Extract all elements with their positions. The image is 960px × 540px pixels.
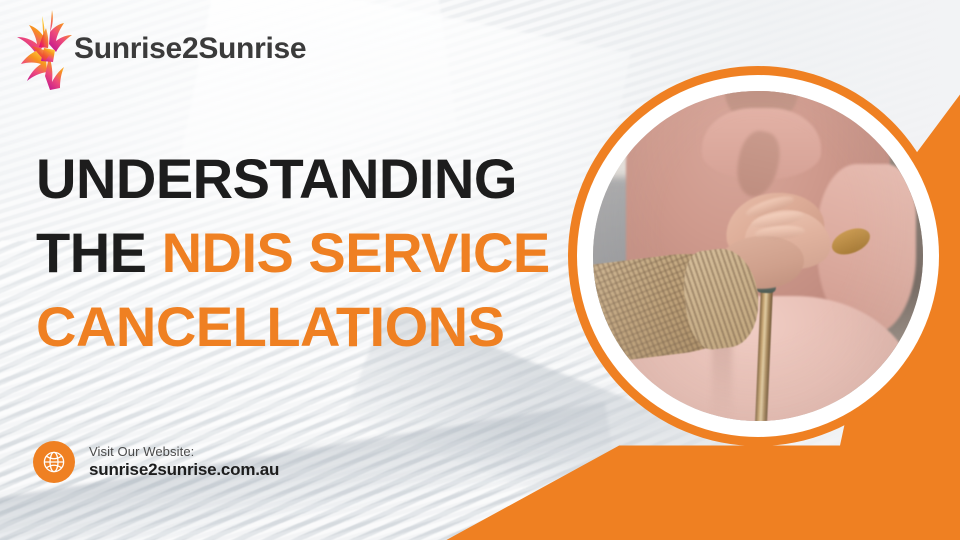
photo-frame-circle [568, 66, 948, 446]
headline-line-2-prefix: THE [36, 221, 162, 284]
photo-vignette [593, 91, 923, 421]
website-callout[interactable]: Visit Our Website: sunrise2sunrise.com.a… [33, 441, 279, 483]
website-text-group: Visit Our Website: sunrise2sunrise.com.a… [89, 444, 279, 480]
headline-block: UNDERSTANDING THE NDIS SERVICE CANCELLAT… [36, 142, 556, 364]
globe-icon [33, 441, 75, 483]
website-label: Visit Our Website: [89, 444, 279, 459]
brand-name: Sunrise2Sunrise [74, 32, 306, 66]
headline-line-2: THE NDIS SERVICE [36, 216, 556, 290]
photo-frame-inner-gap [577, 75, 939, 437]
promo-banner: Sunrise2Sunrise UNDERSTANDING THE NDIS S… [0, 0, 960, 540]
brand-logo[interactable]: Sunrise2Sunrise [8, 6, 306, 92]
headline-line-1: UNDERSTANDING [36, 142, 556, 216]
website-url[interactable]: sunrise2sunrise.com.au [89, 460, 279, 480]
sunburst-splash-logo-icon [8, 6, 82, 92]
hero-photo [593, 91, 923, 421]
headline-line-2-accent: NDIS SERVICE [162, 221, 550, 284]
headline-line-3: CANCELLATIONS [36, 290, 556, 364]
